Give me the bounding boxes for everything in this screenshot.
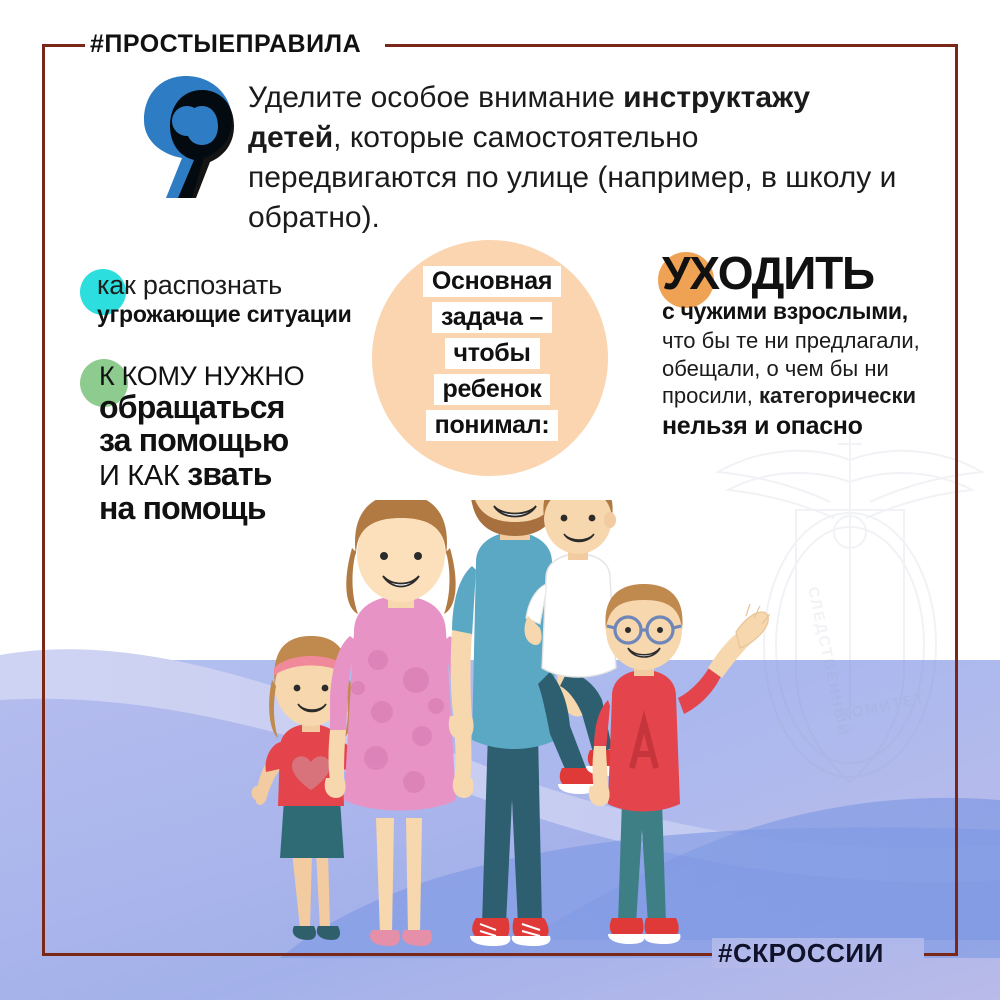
- figure-boy: [589, 584, 770, 944]
- intro-paragraph: Уделите особое внимание инструктажу дете…: [248, 78, 908, 238]
- right-block-subline: с чужими взрослыми,: [662, 299, 952, 325]
- right-block-body-line-3: просили,: [662, 383, 759, 408]
- hashtag-top: #ПРОСТЫЕПРАВИЛА: [90, 30, 361, 59]
- poster-canvas: СЛЕДСТВЕННЫЙ КОМИТЕТ #ПРОСТЫЕПРАВИЛА #СК…: [0, 0, 1000, 1000]
- center-line-1: Основная: [423, 266, 561, 297]
- center-line-3: чтобы: [445, 338, 540, 369]
- left-block-2-line-4-bold: звать: [187, 456, 271, 492]
- center-line-4: ребенок: [434, 374, 551, 405]
- family-illustration: [250, 500, 770, 970]
- right-block-body: что бы те ни предлагали,обещали, о чем б…: [662, 327, 952, 410]
- left-block-2-line-3: за помощью: [99, 424, 439, 456]
- right-block-never-leave-with-strangers: УХОДИТЬ с чужими взрослыми, что бы те ни…: [662, 251, 952, 440]
- left-block-2-line-4: И КАК звать: [99, 458, 439, 491]
- right-block-body-line-2: обещали, о чем бы ни: [662, 356, 889, 381]
- left-block-1-line-light: как распознать: [97, 272, 427, 299]
- rule-number-9-icon: [138, 74, 244, 200]
- left-block-2-line-4-light: И КАК: [99, 460, 187, 492]
- center-circle-text: Основная задача – чтобы ребенок понимал:: [410, 266, 574, 441]
- center-line-5: понимал:: [426, 410, 559, 441]
- intro-part-1: Уделите особое внимание: [248, 81, 623, 114]
- right-block-body-line-1: что бы те ни предлагали,: [662, 328, 920, 353]
- right-block-final-bold: нельзя и опасно: [662, 412, 952, 440]
- center-line-2: задача –: [432, 302, 552, 333]
- intro-part-2: , которые самостоятельно передвигаются п…: [248, 121, 896, 234]
- right-block-body-bold-inline: категорически: [759, 383, 916, 408]
- right-block-headline: УХОДИТЬ: [662, 251, 952, 296]
